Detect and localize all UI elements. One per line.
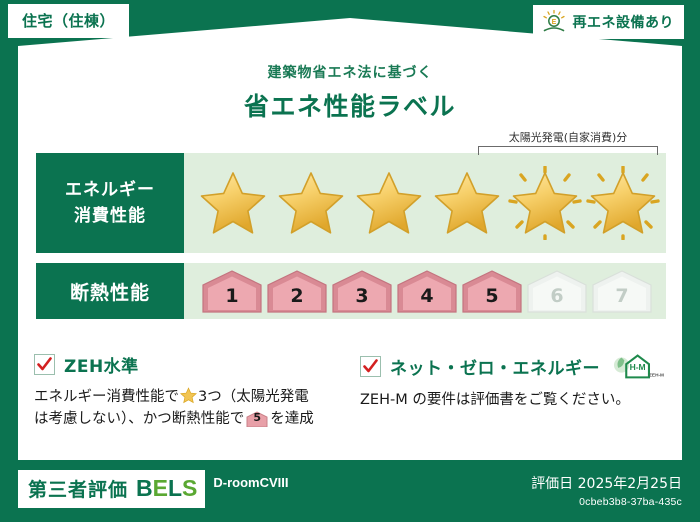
energy-label-line2: 消費性能 [74,203,146,229]
star-icon [508,166,582,240]
star-icon [352,166,426,240]
energy-star-solar [586,166,660,240]
star-icon [196,166,270,240]
insulation-grade-4: 4 [396,269,458,313]
grade-number: 7 [615,285,628,313]
energy-star [352,166,426,240]
insulation-performance-row: 断熱性能 1234567 [36,263,666,319]
energy-star [430,166,504,240]
net-zero-title: ネット・ゼロ・エネルギー [390,354,600,379]
insulation-row-body: 1234567 [184,263,666,319]
solar-annotation: 太陽光発電(自家消費)分 [478,129,658,155]
energy-star [274,166,348,240]
net-zero-checkbox [360,356,381,377]
energy-performance-row-body: 太陽光発電(自家消費)分 [184,153,666,253]
zeh-standard-description: エネルギー消費性能で3つ（太陽光発電は考慮しない）、かつ断熱性能で5を達成 [34,386,354,431]
renewable-badge-label: 再エネ設備あり [573,12,675,32]
grade-number: 4 [420,285,433,313]
inline-grade-badge: 5 [246,411,268,427]
grade-number: 5 [485,285,498,313]
sun-renewable-icon: E [541,9,567,35]
energy-star [196,166,270,240]
bels-letter-b: B [136,475,153,501]
third-party-label: 第三者評価 [28,475,128,502]
zeh-standard-checkbox [34,354,55,375]
title-block: 建築物省エネ法に基づく 省エネ性能ラベル [0,62,700,123]
insulation-grade-2: 2 [266,269,328,313]
check-icon [361,357,380,376]
criteria-net-zero-energy: ネット・ゼロ・エネルギー H-M ZEH-M ZEH-M の要件は評価書をご覧く… [360,352,666,411]
zeh-standard-title: ZEH水準 [64,352,139,377]
bels-logo: BELSD-roomCVIII [136,475,197,502]
zeh-desc-part1: エネルギー消費性能で [34,389,179,405]
energy-performance-row: エネルギー 消費性能 太陽光発電(自家消費)分 [36,153,666,253]
footer-bels-block: 第三者評価 BELSD-roomCVIII [18,470,205,508]
energy-star-rating [184,153,666,253]
grade-number: 1 [225,285,238,313]
svg-text:E: E [551,19,556,26]
criteria-left-head: ZEH水準 [34,352,354,377]
grade-number: 6 [550,285,563,313]
star-icon [274,166,348,240]
evaluation-id: 0cbeb3b8-37ba-435c [531,496,682,508]
inline-grade-value: 5 [246,409,268,426]
renewable-energy-badge: E 再エネ設備あり [533,5,685,39]
bels-letter-l: L [168,475,182,501]
grade-number: 2 [290,285,303,313]
insulation-grade-1: 1 [201,269,263,313]
bels-letter-e: E [153,475,168,501]
solar-annotation-text: 太陽光発電(自家消費)分 [478,129,658,145]
energy-performance-row-label: エネルギー 消費性能 [36,153,184,253]
grade-number: 3 [355,285,368,313]
building-type-tab: 住宅（住棟） [8,4,129,38]
insulation-grade-3: 3 [331,269,393,313]
star-icon [430,166,504,240]
zeh-m-logo-icon: H-M ZEH-M [613,352,666,380]
zeh-m-logo-caption: ZEH-M [649,372,664,378]
energy-label-line1: エネルギー [65,177,155,203]
zeh-desc-part2: 3つ（太陽光発電 [198,389,309,405]
zeh-desc-part4: を達成 [270,411,314,427]
page-title: 省エネ性能ラベル [0,87,700,123]
criteria-right-head: ネット・ゼロ・エネルギー H-M ZEH-M [360,352,666,380]
star-icon [586,166,660,240]
energy-star-solar [508,166,582,240]
solar-bracket [478,146,658,155]
insulation-label-text: 断熱性能 [70,278,150,305]
net-zero-description: ZEH-M の要件は評価書をご覧ください。 [360,389,666,411]
insulation-grade-7: 7 [591,269,653,313]
room-name-label: D-roomCVIII [213,475,288,490]
zeh-desc-part3: は考慮しない）、かつ断熱性能で [34,411,244,427]
zeh-m-logo-text: H-M [630,362,646,372]
evaluation-date: 評価日 2025年2月25日 [531,473,682,493]
insulation-row-label: 断熱性能 [36,263,184,319]
insulation-grade-scale: 1234567 [184,263,666,319]
insulation-grade-5: 5 [461,269,523,313]
building-type-label: 住宅（住棟） [22,12,115,30]
insulation-grade-6: 6 [526,269,588,313]
footer-evaluation-info: 評価日 2025年2月25日 0cbeb3b8-37ba-435c [531,473,682,508]
criteria-zeh-standard: ZEH水準 エネルギー消費性能で3つ（太陽光発電は考慮しない）、かつ断熱性能で5… [34,352,354,431]
bels-letter-s: S [182,475,197,501]
inline-star-icon [180,387,197,404]
energy-performance-label: 住宅（住棟） E 再エネ設備あり 建築物省エネ法に基づく 省エネ性能ラベル エネ… [0,0,700,522]
title-subtitle: 建築物省エネ法に基づく [0,62,700,82]
check-icon [35,355,54,374]
